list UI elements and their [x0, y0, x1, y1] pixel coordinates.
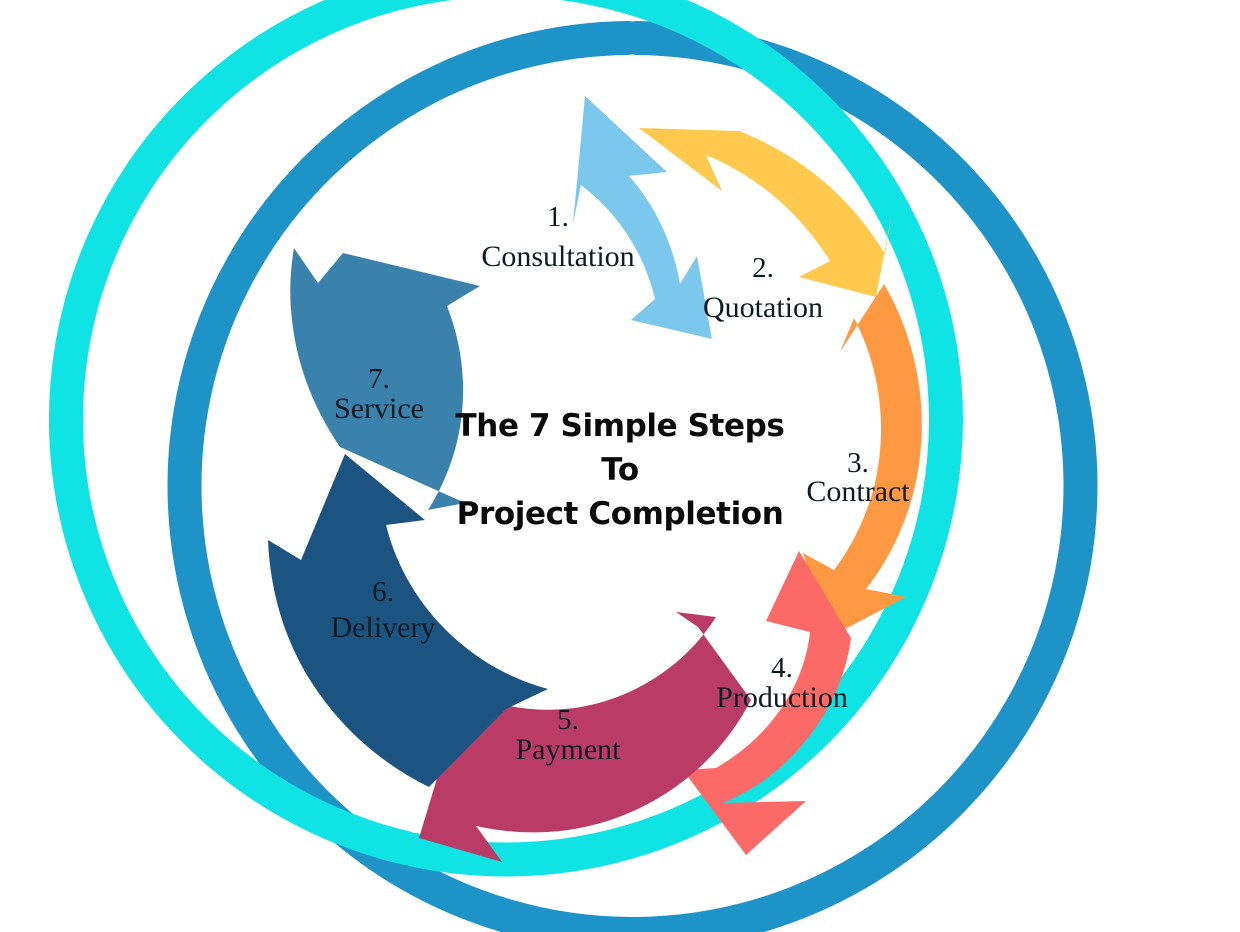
step-2-name: Quotation	[703, 291, 823, 324]
cycle-diagram: 1. Consultation 2. Quotation 3. Contract…	[0, 0, 1240, 932]
step-7-number: 7.	[368, 363, 390, 395]
step-5-number: 5.	[557, 704, 579, 736]
step-7-name: Service	[334, 392, 424, 425]
step-4-number: 4.	[771, 652, 793, 684]
cycle-diagram-canvas: 1. Consultation 2. Quotation 3. Contract…	[0, 0, 1240, 932]
step-4-name: Production	[716, 681, 848, 714]
step-1-number: 1.	[547, 201, 569, 233]
step-2-number: 2.	[752, 252, 774, 284]
step-5-name: Payment	[516, 733, 622, 766]
step-6-name: Delivery	[331, 611, 436, 644]
step-3-name: Contract	[806, 475, 910, 508]
step-6-number: 6.	[372, 576, 394, 608]
step-1-name: Consultation	[481, 240, 634, 273]
